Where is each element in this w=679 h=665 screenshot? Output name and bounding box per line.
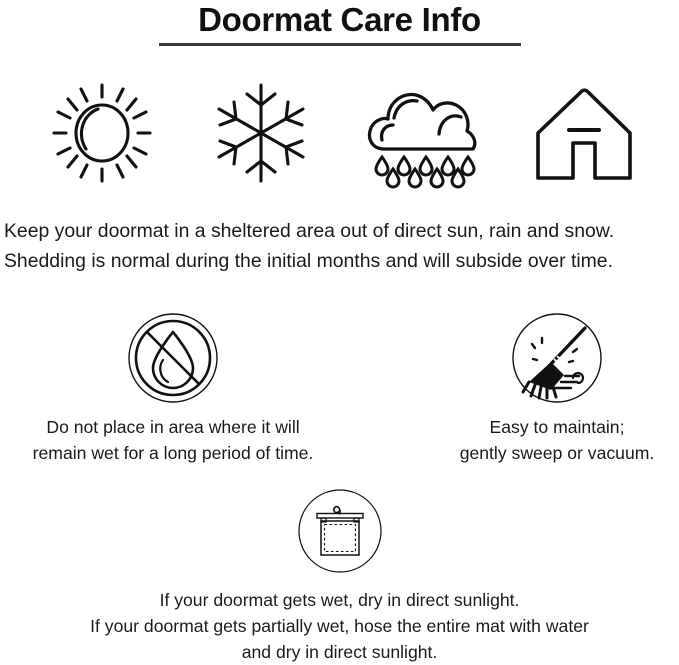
sun-icon-cell xyxy=(27,68,177,198)
snowflake-icon-cell xyxy=(186,68,336,198)
drying-section: If your doormat gets wet, dry in direct … xyxy=(0,482,679,665)
page-title: Doormat Care Info xyxy=(0,2,679,38)
tip-caption-no-water: Do not place in area where it will remai… xyxy=(23,414,323,466)
drying-line-1: If your doormat gets wet, dry in direct … xyxy=(0,587,679,613)
rain-cloud-icon xyxy=(362,77,482,189)
drying-caption: If your doormat gets wet, dry in direct … xyxy=(0,587,679,665)
tip-0-line-1: Do not place in area where it will xyxy=(23,414,323,440)
sun-icon xyxy=(50,77,154,189)
tip-easy-maintain: Easy to maintain; gently sweep or vacuum… xyxy=(407,310,679,466)
intro-paragraph: Keep your doormat in a sheltered area ou… xyxy=(0,216,679,276)
title-underline-rule xyxy=(159,43,521,46)
snowflake-icon xyxy=(213,79,309,187)
hanging-mat-badge xyxy=(0,482,679,580)
no-water-icon xyxy=(127,312,219,404)
tip-1-line-1: Easy to maintain; xyxy=(407,414,679,440)
care-tips-section: Do not place in area where it will remai… xyxy=(0,310,679,470)
broom-badge xyxy=(407,310,679,406)
weather-icon-row xyxy=(0,68,679,198)
tip-1-line-2: gently sweep or vacuum. xyxy=(407,440,679,466)
tip-caption-easy-maintain: Easy to maintain; gently sweep or vacuum… xyxy=(407,414,679,466)
tip-0-line-2: remain wet for a long period of time. xyxy=(23,440,323,466)
drying-line-2: If your doormat gets partially wet, hose… xyxy=(0,613,679,639)
intro-line-1: Keep your doormat in a sheltered area ou… xyxy=(4,216,675,246)
drying-line-3: and dry in direct sunlight. xyxy=(0,639,679,665)
house-icon-cell xyxy=(509,68,659,198)
tip-no-standing-water: Do not place in area where it will remai… xyxy=(23,310,323,466)
hanging-mat-icon xyxy=(297,488,383,574)
title-block: Doormat Care Info xyxy=(0,0,679,46)
rain-cloud-icon-cell xyxy=(347,68,497,198)
broom-sweeping-icon xyxy=(511,312,603,404)
intro-line-2: Shedding is normal during the initial mo… xyxy=(4,246,675,276)
house-icon xyxy=(528,77,640,189)
no-water-badge xyxy=(23,310,323,406)
